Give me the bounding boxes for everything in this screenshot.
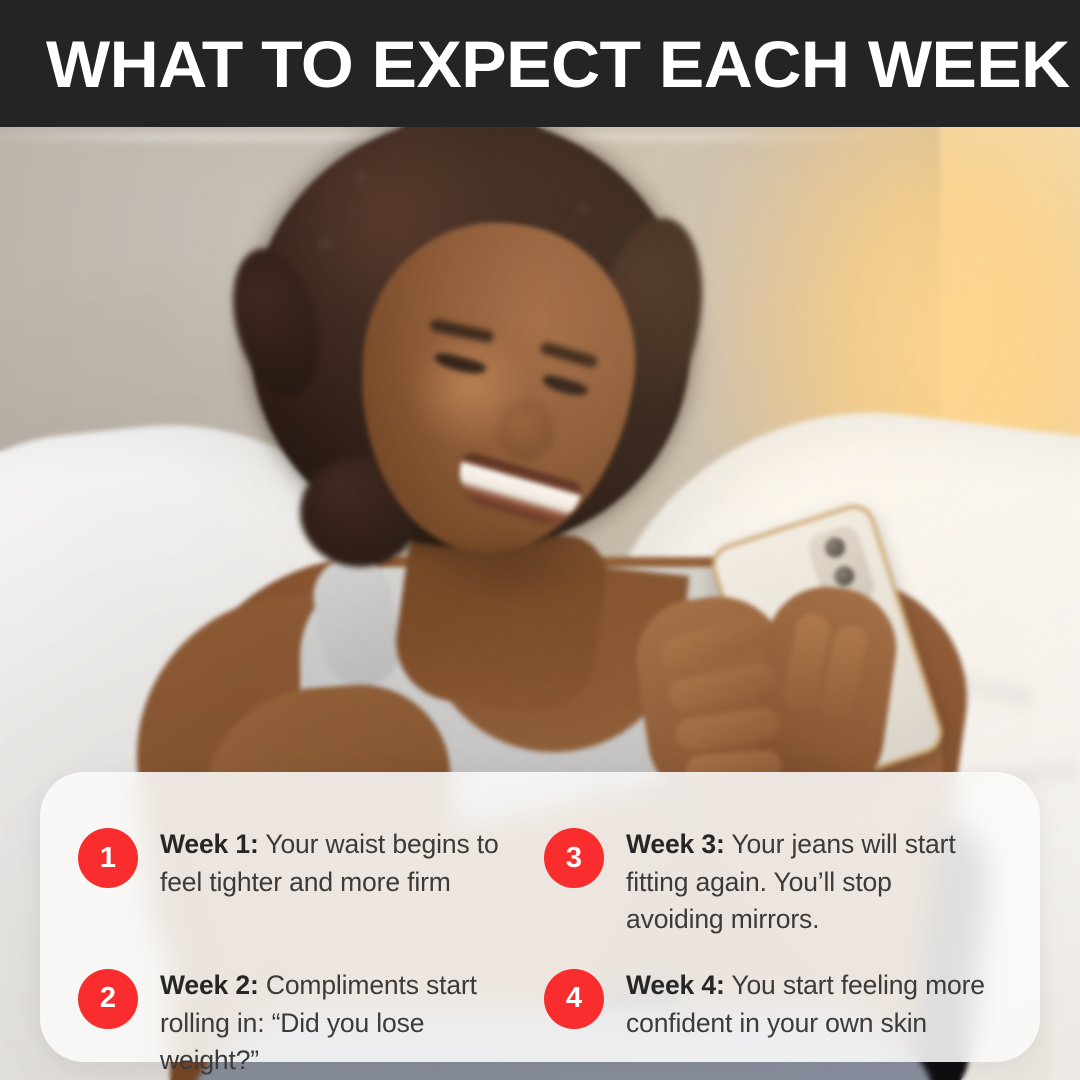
- week-3-label: Week 3:: [626, 829, 725, 859]
- step-badge-1: 1: [78, 828, 138, 888]
- list-item-week-2: 2 Week 2: Compliments start rolling in: …: [78, 949, 528, 1080]
- week-4-label: Week 4:: [626, 970, 725, 1000]
- weeks-grid: 1 Week 1: Your waist begins to feel tigh…: [40, 772, 1040, 1062]
- list-item-week-3: 3 Week 3: Your jeans will start fitting …: [544, 826, 994, 939]
- weeks-card: 1 Week 1: Your waist begins to feel tigh…: [40, 772, 1040, 1062]
- week-3-text: Week 3: Your jeans will start fitting ag…: [626, 826, 994, 939]
- step-badge-2: 2: [78, 969, 138, 1029]
- step-badge-3: 3: [544, 828, 604, 888]
- header-bar: WHAT TO EXPECT EACH WEEK: [0, 0, 1080, 127]
- camera-lens-icon: [822, 535, 847, 560]
- step-badge-4: 4: [544, 969, 604, 1029]
- list-item-week-1: 1 Week 1: Your waist begins to feel tigh…: [78, 826, 528, 939]
- week-2-label: Week 2:: [160, 970, 259, 1000]
- week-4-text: Week 4: You start feeling more confident…: [626, 967, 994, 1042]
- camera-lens-icon: [832, 563, 857, 588]
- list-item-week-4: 4 Week 4: You start feeling more confide…: [544, 949, 994, 1080]
- week-2-text: Week 2: Compliments start rolling in: “D…: [160, 967, 528, 1080]
- chin-shadow: [420, 527, 600, 607]
- page-title: WHAT TO EXPECT EACH WEEK: [46, 31, 1070, 97]
- week-1-text: Week 1: Your waist begins to feel tighte…: [160, 826, 528, 901]
- poster-root: WHAT TO EXPECT EACH WEEK 1 Week 1: Your …: [0, 0, 1080, 1080]
- week-1-label: Week 1:: [160, 829, 259, 859]
